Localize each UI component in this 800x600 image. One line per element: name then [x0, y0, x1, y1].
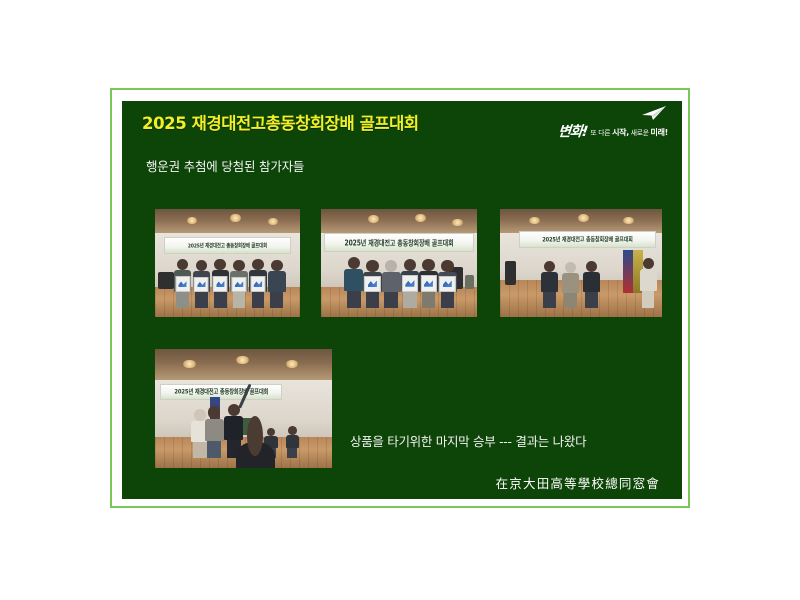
slide-frame: 2025 재경대전고총동창회장배 골프대회 변화! 또 다른 시작, 새로운 미…	[110, 88, 690, 508]
brand-tagline-lead: 또 다른	[590, 129, 612, 137]
photo-award-presentation: 2025년 재경대전고 총동창회장배 골프대회	[500, 209, 662, 317]
photo-lucky-draw-winners-1: 2025년 재경대전고 총동창회장배 골프대회	[155, 209, 300, 317]
brand-tagline-em-start: 시작,	[612, 128, 629, 137]
photo-banner-text: 2025년 재경대전고 총동창회장배 골프대회	[174, 387, 268, 396]
brand-wordmark: 변화!	[558, 125, 589, 140]
slide-header: 2025 재경대전고총동창회장배 골프대회 변화! 또 다른 시작, 새로운 미…	[122, 101, 682, 149]
photo-banner-text: 2025년 재경대전고 총동창회장배 골프대회	[345, 237, 454, 248]
section-caption: 행운권 추첨에 당첨된 참가자들	[146, 156, 304, 175]
photo-banner-text: 2025년 재경대전고 총동창회장배 골프대회	[542, 235, 632, 244]
slide-content-panel: 2025 재경대전고총동창회장배 골프대회 변화! 또 다른 시작, 새로운 미…	[122, 101, 682, 499]
brand-tagline: 또 다른 시작, 새로운 미래!	[590, 129, 668, 140]
brand-tagline-em-future: 미래!	[651, 128, 668, 137]
photo-banner-text: 2025년 재경대전고 총동창회장배 골프대회	[188, 242, 267, 250]
result-caption: 상품을 타기위한 마지막 승부 --- 결과는 나왔다	[350, 431, 586, 450]
page-title: 2025 재경대전고총동창회장배 골프대회	[142, 110, 419, 134]
organization-footer: 在京大田高等學校總同窓會	[496, 473, 660, 492]
brand-tagline-mid: 새로운	[629, 129, 651, 137]
brand-logo: 변화! 또 다른 시작, 새로운 미래!	[558, 106, 668, 140]
paper-plane-icon	[641, 105, 667, 121]
photo-lucky-draw-winners-2: 2025년 재경대전고 총동창회장배 골프대회	[321, 209, 477, 317]
photo-final-showdown: 2025년 재경대전고 총동창회장배 골프대회	[155, 349, 332, 468]
